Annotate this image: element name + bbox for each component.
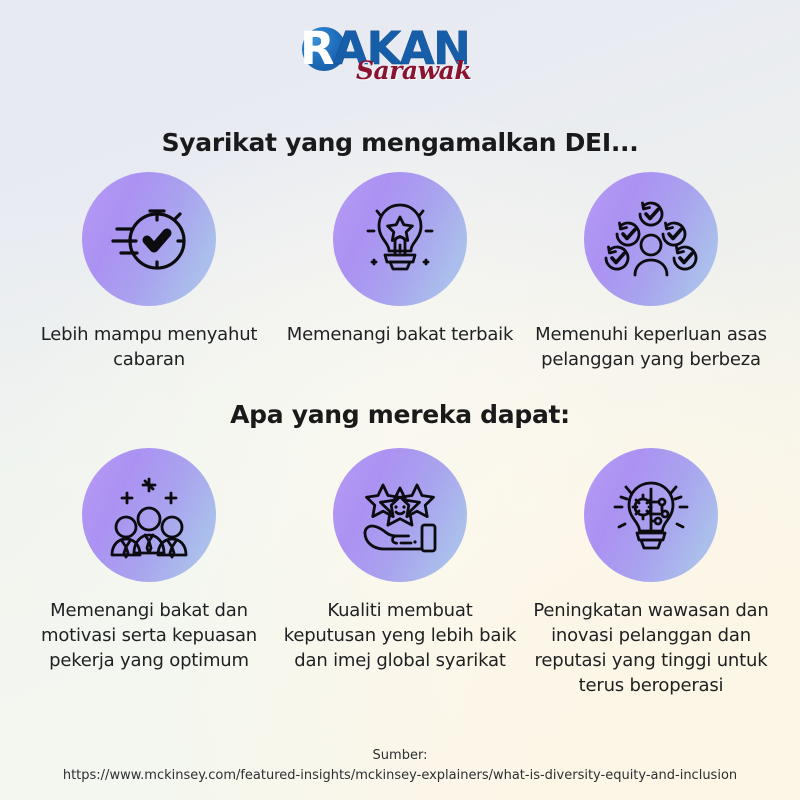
benefit-item: Memenangi bakat dan motivasi serta kepua…: [24, 448, 274, 698]
benefit-item: Kualiti membuat keputusan yeng lebih bai…: [275, 448, 525, 698]
stopwatch-check-icon: [82, 172, 216, 306]
source-url[interactable]: https://www.mckinsey.com/featured-insigh…: [0, 766, 800, 786]
source-label: Sumber:: [0, 746, 800, 766]
section-heading-2: Apa yang mereka dapat:: [0, 400, 800, 429]
benefit-caption: Memenuhi keperluan asas pelanggan yang b…: [531, 322, 771, 372]
benefit-item: Memenuhi keperluan asas pelanggan yang b…: [526, 172, 776, 372]
three-people-sparkles-icon: [82, 448, 216, 582]
logo-wordmark-initial: R: [300, 22, 333, 75]
brand-logo: RAKAN Sarawak: [0, 22, 800, 92]
lightbulb-gear-circuit-icon: [584, 448, 718, 582]
infographic-poster: RAKAN Sarawak Syarikat yang mengamalkan …: [0, 0, 800, 800]
person-check-circles-icon: [584, 172, 718, 306]
benefit-item: Peningkatan wawasan dan inovasi pelangga…: [526, 448, 776, 698]
benefit-caption: Memenangi bakat terbaik: [280, 322, 520, 347]
benefit-item: Memenangi bakat terbaik: [275, 172, 525, 372]
benefit-caption: Lebih mampu menyahut cabaran: [29, 322, 269, 372]
benefit-caption: Kualiti membuat keputusan yeng lebih bai…: [280, 598, 520, 673]
benefit-item: Lebih mampu menyahut cabaran: [24, 172, 274, 372]
benefits-row-2: Memenangi bakat dan motivasi serta kepua…: [0, 448, 800, 698]
hand-holding-stars-icon: [333, 448, 467, 582]
benefit-caption: Memenangi bakat dan motivasi serta kepua…: [29, 598, 269, 673]
logo-subbrand: Sarawak: [356, 56, 471, 85]
lightbulb-star-person-icon: [333, 172, 467, 306]
benefit-caption: Peningkatan wawasan dan inovasi pelangga…: [531, 598, 771, 698]
section-heading-1: Syarikat yang mengamalkan DEI...: [0, 128, 800, 157]
source-footer: Sumber: https://www.mckinsey.com/feature…: [0, 746, 800, 786]
benefits-row-1: Lebih mampu menyahut cabaran Memenangi b…: [0, 172, 800, 372]
